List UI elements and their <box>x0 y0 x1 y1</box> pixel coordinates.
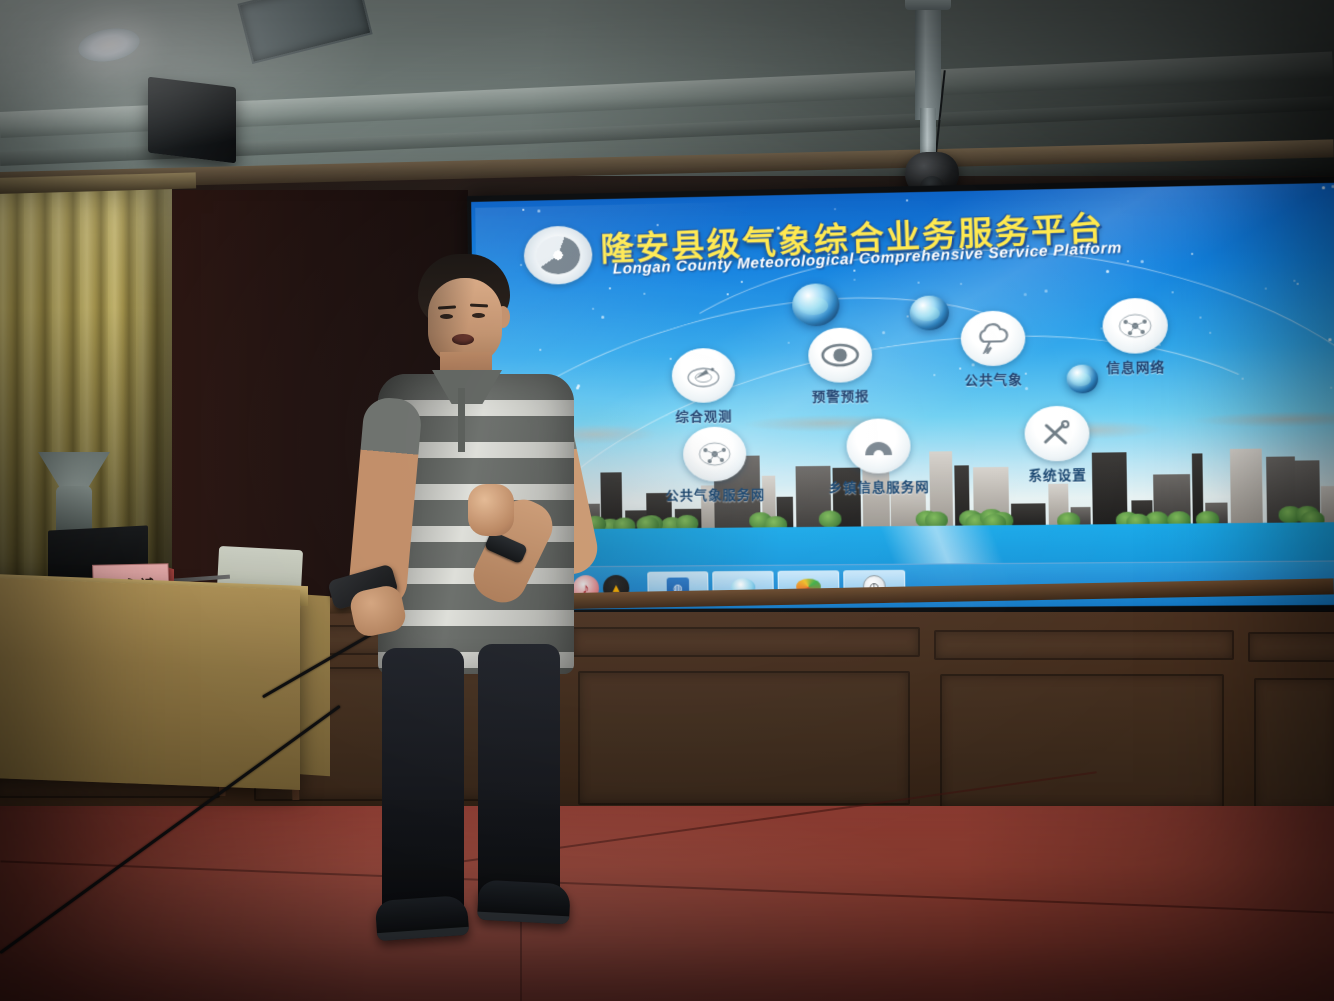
screen-app-2[interactable]: 乡镇信息服务网 <box>816 418 941 497</box>
screen-app-2[interactable]: 预警预报 <box>778 327 902 406</box>
presenter-shoe <box>375 895 470 941</box>
network-nodes-icon <box>1102 298 1168 355</box>
wainscot-panel <box>572 627 920 657</box>
eye-icon <box>808 327 873 383</box>
presenter-shoe <box>477 880 571 925</box>
screen-app-label: 信息网络 <box>1073 356 1200 377</box>
screen-app-3[interactable]: 系统设置 <box>994 405 1121 484</box>
wainscot-panel <box>578 671 910 805</box>
presenter <box>300 248 600 948</box>
wainscot-panel <box>1248 632 1334 662</box>
screen-app-label: 公共气象服务网 <box>654 484 776 504</box>
tools-icon <box>1024 406 1090 462</box>
camera-pole-cap <box>905 0 951 10</box>
screen-app-label: 综合观测 <box>643 405 765 426</box>
building <box>1230 449 1263 526</box>
wainscot-panel <box>934 630 1234 660</box>
presenter-leg <box>478 644 560 912</box>
presenter-placket <box>458 388 465 452</box>
screen-app-1[interactable]: 公共气象服务网 <box>653 426 776 504</box>
radar-dish-icon <box>672 348 736 403</box>
floor-shading <box>0 806 1334 1001</box>
projection-screen[interactable]: 隆安县级气象综合业务服务平台 Longan County Meteorologi… <box>471 182 1334 610</box>
screen-app-3[interactable]: 公共气象 <box>930 310 1056 390</box>
network-nodes-icon <box>683 426 747 481</box>
star <box>523 209 525 211</box>
camera-pole <box>915 0 941 120</box>
star <box>537 210 540 213</box>
presenter-fist <box>468 484 514 536</box>
screen-app-label: 乡镇信息服务网 <box>817 476 941 497</box>
screen-app-label: 系统设置 <box>995 464 1121 485</box>
screen-app-1[interactable]: 综合观测 <box>642 347 765 425</box>
home-icon <box>846 418 911 474</box>
presenter-legs <box>382 648 572 948</box>
wainscot-panel <box>1254 678 1334 812</box>
screen-app-label: 预警预报 <box>779 385 903 406</box>
tree <box>819 511 842 527</box>
screen-app-4[interactable]: 信息网络 <box>1072 297 1199 377</box>
head-table <box>0 578 300 790</box>
presenter-leg <box>382 648 464 916</box>
screen-app-label: 公共气象 <box>931 368 1056 389</box>
cloud-lightning-icon <box>960 310 1025 366</box>
screenshot-root: 隆安县级气象综合业务服务平台 Longan County Meteorologi… <box>0 0 1334 1001</box>
building <box>1011 503 1046 527</box>
